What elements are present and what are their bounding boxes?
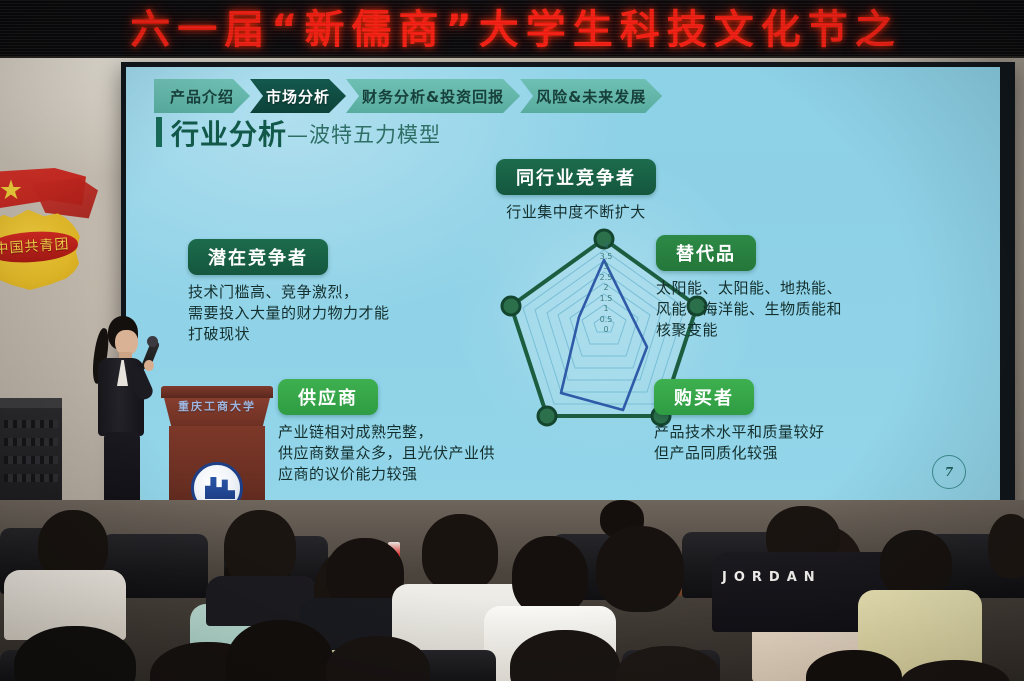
force-text-buyers: 产品技术水平和质量较好 但产品同质化较强 (654, 422, 954, 464)
force-line: 行业集中度不断扩大 (426, 202, 726, 223)
crest-building-glyph (205, 477, 235, 499)
force-chip-buyers: 购买者 (654, 379, 754, 415)
nav-tab-financial-analysis[interactable]: 财务分析&投资回报 (346, 79, 520, 113)
slide-title-subtitle: —波特五力模型 (287, 120, 441, 150)
youth-league-emblem: ★ 中国共青团 (0, 168, 98, 300)
nav-tab-label: 财务分析&投资回报 (346, 86, 520, 107)
force-block-substitutes: 替代品 太阳能、太阳能、地热能、 风能、海洋能、生物质能和 核聚变能 (656, 235, 966, 341)
radar-tick: 2.5 (585, 273, 627, 284)
audience-head (422, 514, 498, 592)
force-block-potential-entrants: 潜在竞争者 技术门槛高、竞争激烈， 需要投入大量的财力物力才能 打破现状 (188, 239, 458, 345)
force-line: 但产品同质化较强 (654, 443, 954, 464)
force-text-potential-entrants: 技术门槛高、竞争激烈， 需要投入大量的财力物力才能 打破现状 (188, 282, 458, 345)
slide-section-nav: 产品介绍 市场分析 财务分析&投资回报 风险&未来发展 (154, 79, 974, 113)
microphone-head-icon (147, 336, 158, 347)
star-icon: ★ (0, 176, 26, 206)
nav-tab-market-analysis[interactable]: 市场分析 (250, 79, 346, 113)
nav-tab-label: 市场分析 (250, 86, 346, 107)
audience-seating-area: 主 持 席 (0, 500, 1024, 681)
av-vent-1 (4, 420, 58, 428)
radar-tick: 0.5 (585, 315, 627, 326)
force-line: 技术门槛高、竞争激烈， (188, 282, 458, 303)
av-vent-2 (4, 438, 58, 446)
title-accent-bar (156, 117, 162, 147)
av-vent-3 (4, 456, 58, 464)
slide-page-number: 7 (932, 455, 966, 489)
radar-axis-tick-labels: 4 3.5 3 2.5 2 1.5 1 0.5 0 (585, 241, 627, 336)
slide-title: 行业分析 —波特五力模型 (156, 117, 441, 150)
force-chip-substitutes: 替代品 (656, 235, 756, 271)
audience-head (988, 514, 1024, 578)
podium-top-surface (161, 386, 273, 398)
radar-tick: 2 (585, 283, 627, 294)
presenter-hand (144, 360, 154, 371)
audience-head (224, 510, 296, 586)
nav-tab-product-intro[interactable]: 产品介绍 (154, 79, 250, 113)
jacket-brand-text: JORDAN (722, 570, 822, 585)
radar-tick: 3.5 (585, 252, 627, 263)
radar-tick: 1 (585, 304, 627, 315)
force-chip-suppliers: 供应商 (278, 379, 378, 415)
force-block-rivals: 同行业竞争者 行业集中度不断扩大 (426, 159, 726, 223)
led-headline-banner: 六一届“新儒商”大学生科技文化节之 (0, 0, 1024, 56)
force-text-rivals: 行业集中度不断扩大 (426, 202, 726, 223)
force-line: 产业链相对成熟完整， (278, 422, 558, 443)
force-line: 应商的议价能力较强 (278, 464, 558, 485)
force-line: 风能、海洋能、生物质能和 (656, 299, 966, 320)
presentation-room-photo: ★ 中国共青团 产品介绍 市场分析 (0, 0, 1024, 681)
presenter-speaker (86, 316, 158, 516)
nav-tab-label: 风险&未来发展 (520, 86, 662, 107)
force-line: 太阳能、太阳能、地热能、 (656, 278, 966, 299)
audience-head (596, 526, 684, 612)
av-vent-4 (4, 474, 58, 482)
force-text-substitutes: 太阳能、太阳能、地热能、 风能、海洋能、生物质能和 核聚变能 (656, 278, 966, 341)
radar-tick: 4 (585, 241, 627, 252)
force-text-suppliers: 产业链相对成熟完整， 供应商数量众多，且光伏产业供 应商的议价能力较强 (278, 422, 558, 485)
force-block-buyers: 购买者 产品技术水平和质量较好 但产品同质化较强 (654, 379, 954, 464)
led-banner-text: 六一届“新儒商”大学生科技文化节之 (0, 0, 1024, 54)
force-block-suppliers: 供应商 产业链相对成熟完整， 供应商数量众多，且光伏产业供 应商的议价能力较强 (278, 379, 558, 485)
podium-university-name: 重庆工商大学 (167, 398, 267, 414)
slide-title-main: 行业分析 (171, 120, 287, 150)
av-rack-top (0, 398, 62, 408)
force-line: 产品技术水平和质量较好 (654, 422, 954, 443)
audience-head (512, 536, 588, 616)
force-line: 供应商数量众多，且光伏产业供 (278, 443, 558, 464)
nav-tab-label: 产品介绍 (154, 86, 250, 107)
radar-tick: 0 (585, 325, 627, 336)
force-line: 需要投入大量的财力物力才能 (188, 303, 458, 324)
force-line: 打破现状 (188, 324, 458, 345)
audience-head (880, 530, 952, 598)
force-line: 核聚变能 (656, 320, 966, 341)
force-chip-potential-entrants: 潜在竞争者 (188, 239, 328, 275)
force-chip-rivals: 同行业竞争者 (496, 159, 656, 195)
nav-tab-risk-future[interactable]: 风险&未来发展 (520, 79, 662, 113)
radar-tick: 1.5 (585, 294, 627, 305)
radar-tick: 3 (585, 262, 627, 273)
